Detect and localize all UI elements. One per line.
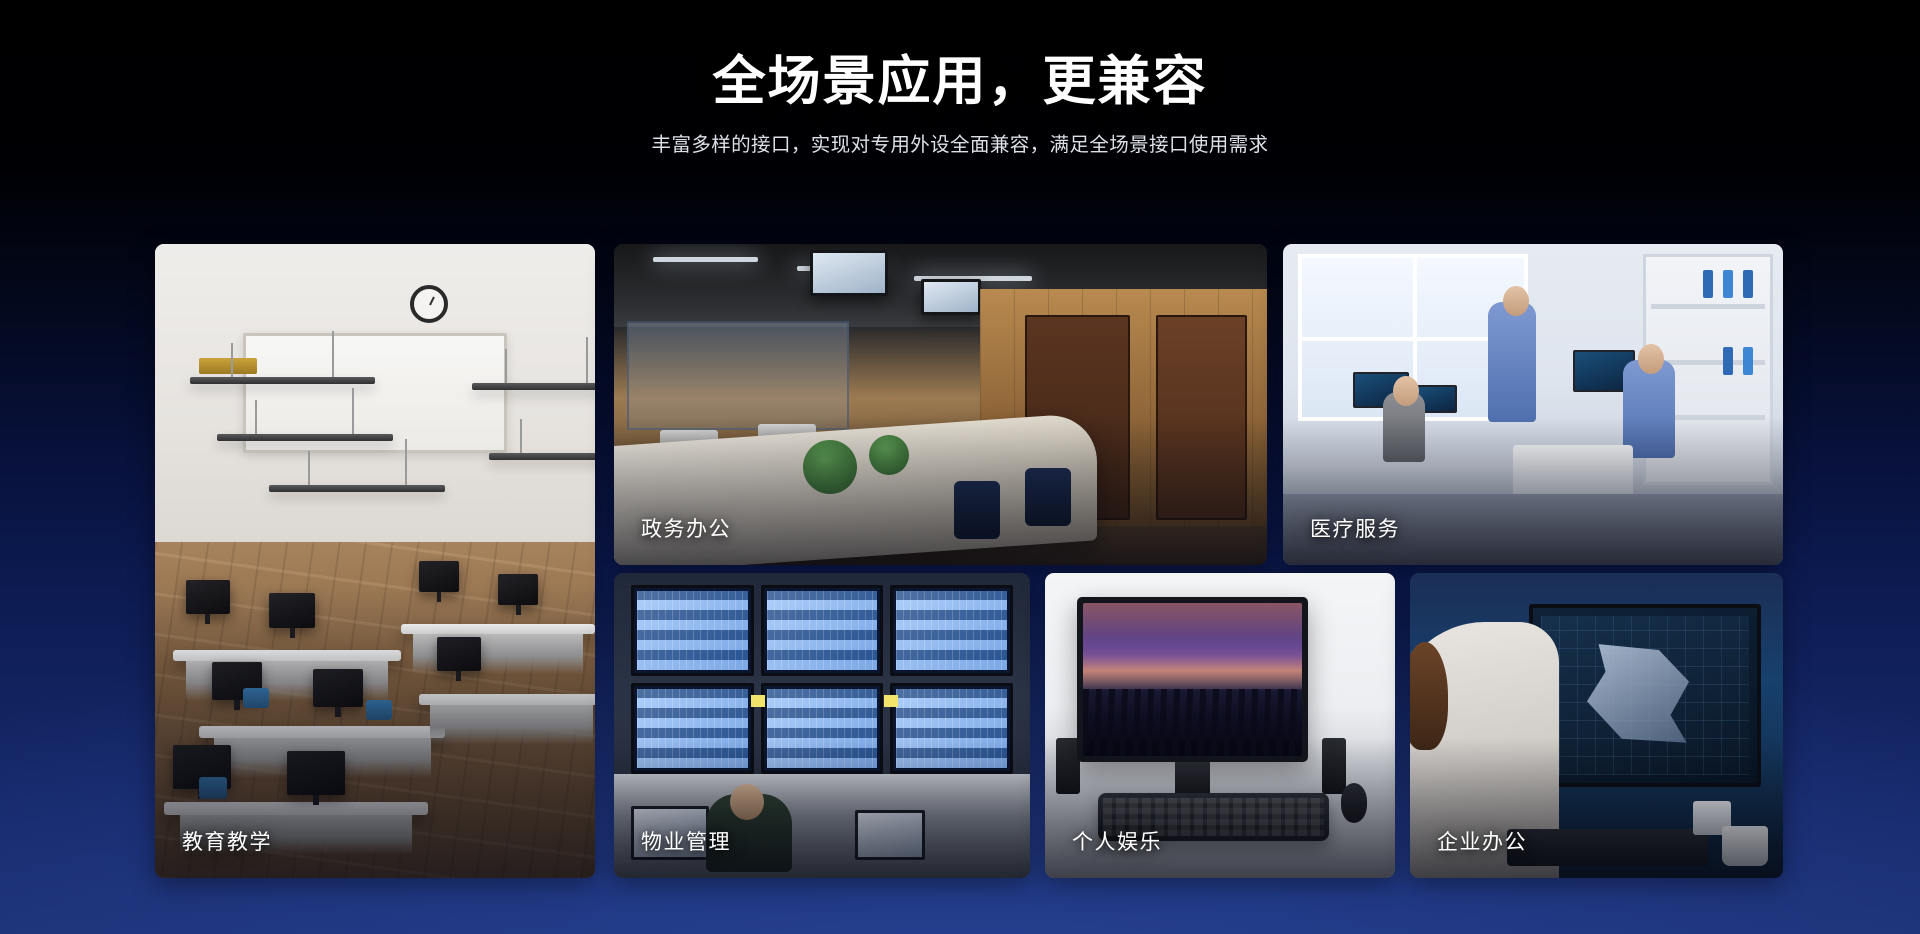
scene-image-education — [155, 244, 595, 878]
scenario-label-government: 政务办公 — [641, 513, 731, 543]
scenario-card-education[interactable]: 教育教学 — [155, 244, 595, 878]
section-header: 全场景应用，更兼容 丰富多样的接口，实现对专用外设全面兼容，满足全场景接口使用需… — [0, 0, 1920, 161]
page-background: 全场景应用，更兼容 丰富多样的接口，实现对专用外设全面兼容，满足全场景接口使用需… — [0, 0, 1920, 934]
scenario-gallery-grid: 教育教学 — [155, 244, 1783, 878]
scenario-label-entertainment: 个人娱乐 — [1072, 826, 1162, 856]
scenario-card-property[interactable]: 物业管理 — [614, 573, 1030, 878]
scenario-card-enterprise[interactable]: 企业办公 — [1410, 573, 1783, 878]
scenario-label-enterprise: 企业办公 — [1437, 826, 1527, 856]
page-title: 全场景应用，更兼容 — [0, 52, 1920, 111]
scenario-card-government[interactable]: 政务办公 — [614, 244, 1267, 565]
scenario-label-property: 物业管理 — [641, 826, 731, 856]
page-subtitle: 丰富多样的接口，实现对专用外设全面兼容，满足全场景接口使用需求 — [0, 131, 1920, 160]
scenario-label-education: 教育教学 — [182, 826, 272, 856]
scenario-card-entertainment[interactable]: 个人娱乐 — [1045, 573, 1395, 878]
scenario-label-medical: 医疗服务 — [1310, 513, 1400, 543]
scenario-card-medical[interactable]: 医疗服务 — [1283, 244, 1783, 565]
